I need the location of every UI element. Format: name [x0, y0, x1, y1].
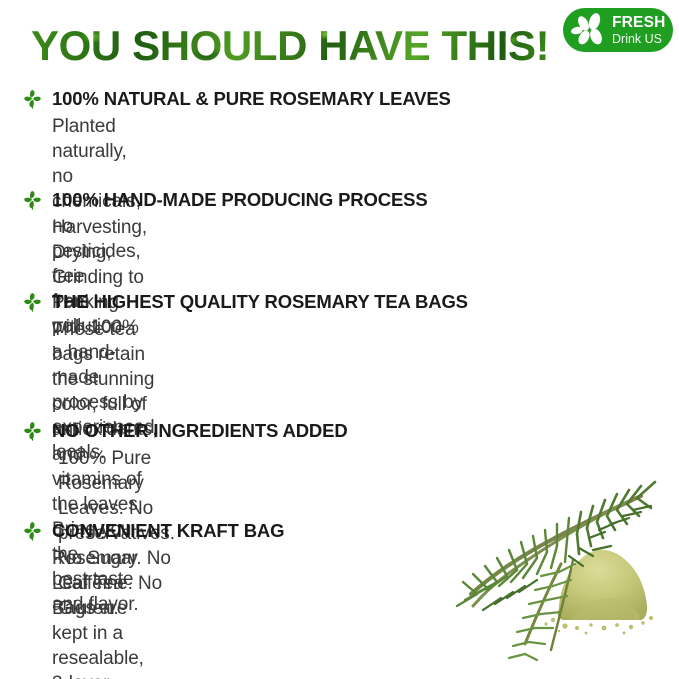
feature-body: Rosemary Leaf Tea Bags are kept in a res… [52, 546, 144, 679]
product-feature-infographic: FRESH Drink US YOU SHOULD HAVE THIS! 100… [0, 0, 679, 679]
four-leaf-clover-icon [22, 89, 43, 110]
brand-text: FRESH Drink US [612, 15, 666, 45]
feature-title: NO OTHER INGREDIENTS ADDED [52, 422, 348, 441]
brand-name: FRESH [612, 15, 666, 31]
four-leaf-clover-icon [22, 190, 43, 211]
feature-title: 100% HAND-MADE PRODUCING PROCESS [52, 191, 428, 210]
four-leaf-clover-icon [22, 521, 43, 542]
leaf-cluster-icon [569, 10, 611, 50]
feature-title: 100% NATURAL & PURE ROSEMARY LEAVES [52, 90, 451, 109]
rosemary-sprigs-and-powder-photo [441, 468, 679, 668]
four-leaf-clover-icon [22, 292, 43, 313]
brand-badge: FRESH Drink US [563, 8, 673, 52]
brand-tagline: Drink US [612, 33, 666, 46]
feature-title: THE HIGHEST QUALITY ROSEMARY TEA BAGS [52, 293, 468, 312]
feature-title: CONVENIENT KRAFT BAG [52, 522, 284, 541]
four-leaf-clover-icon [22, 421, 43, 442]
page-title: YOU SHOULD HAVE THIS! [31, 25, 549, 67]
